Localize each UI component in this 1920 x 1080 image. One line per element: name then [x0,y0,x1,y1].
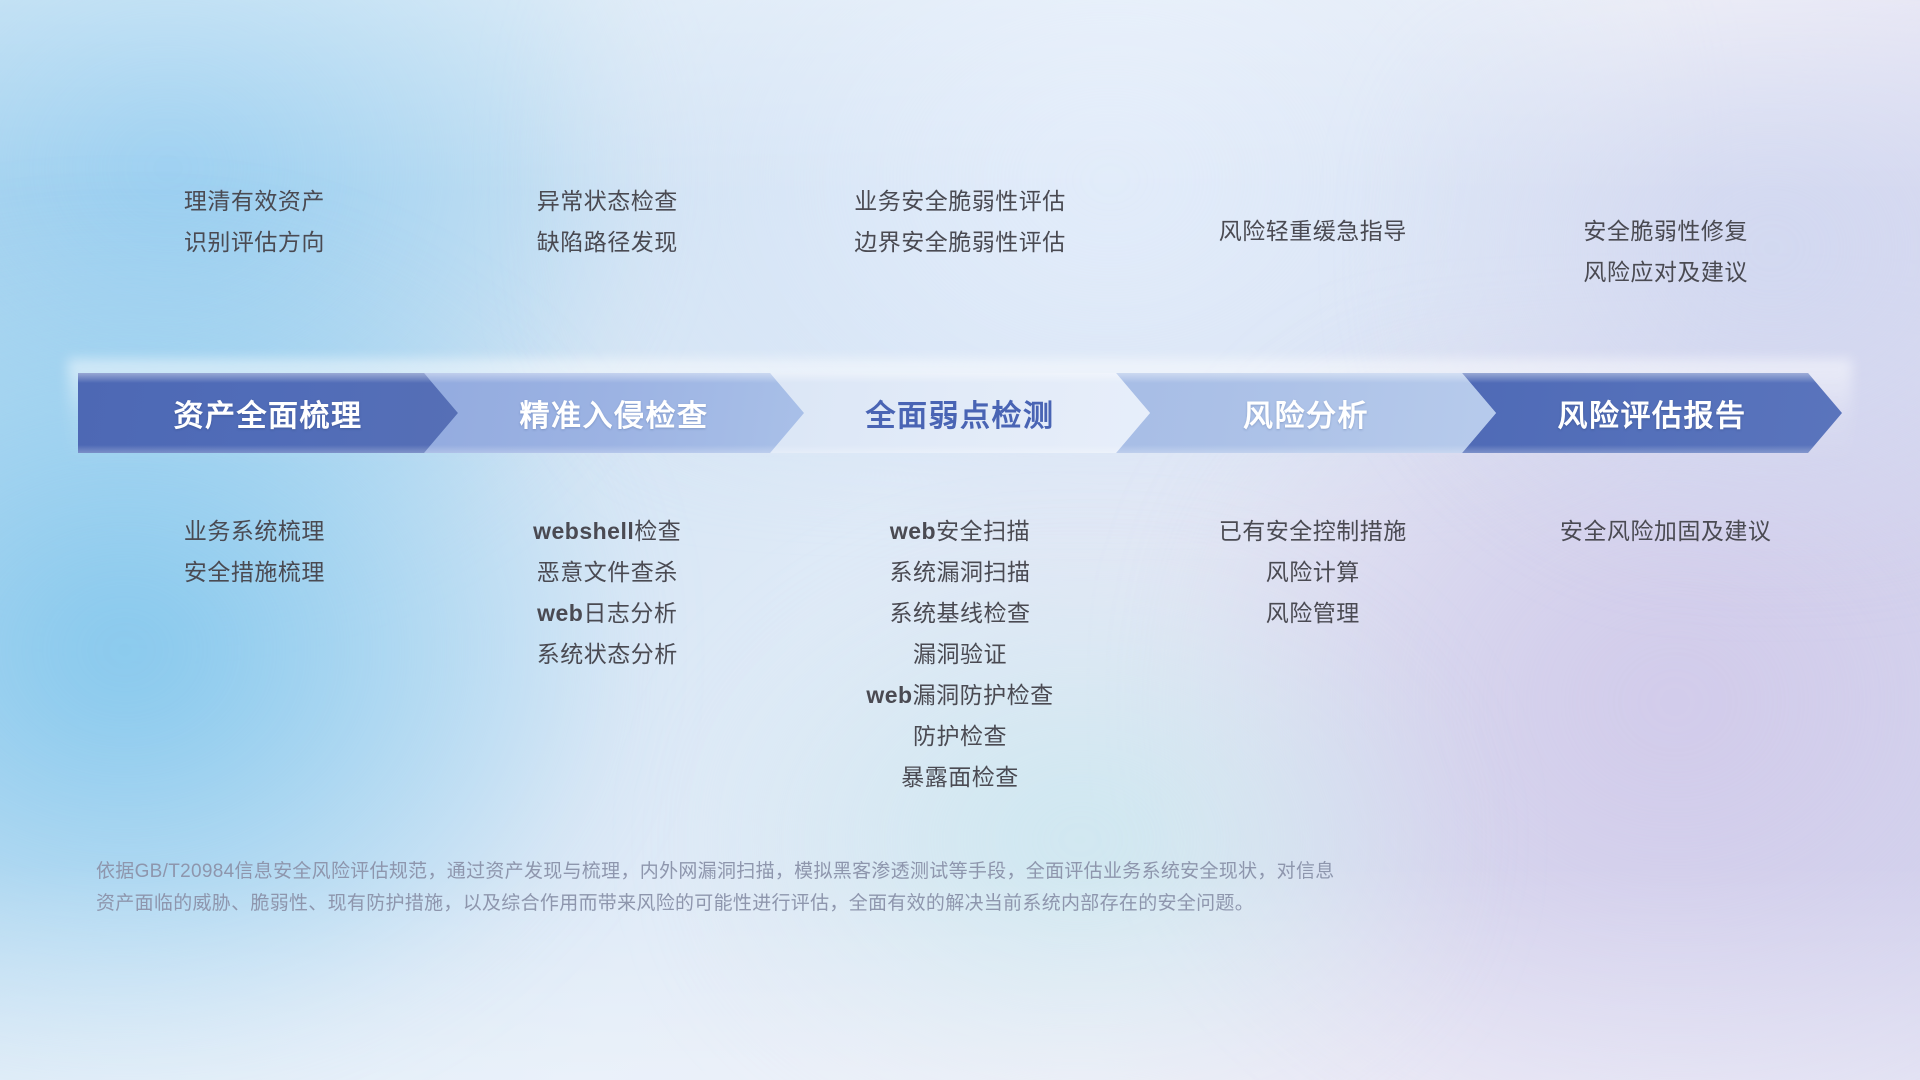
footer-line-1: 依据GB/T20984信息安全风险评估规范，通过资产发现与梳理，内外网漏洞扫描，… [96,856,1656,888]
top-list-item: 缺陷路径发现 [537,227,678,258]
slide-content: 理清有效资产 识别评估方向 异常状态检查 缺陷路径发现 业务安全脆弱性评估 边界… [0,0,1920,1080]
top-list-item: 业务安全脆弱性评估 [854,186,1066,217]
stage-arrow-risk-report[interactable]: 风险评估报告 [1462,373,1842,453]
bottom-list-item: web安全扫描 [890,516,1030,547]
footer-description: 依据GB/T20984信息安全风险评估规范，通过资产发现与梳理，内外网漏洞扫描，… [96,856,1656,920]
top-list-column-3: 业务安全脆弱性评估 边界安全脆弱性评估 [784,186,1137,288]
bottom-list-column-2: webshell检查 恶意文件查杀 web日志分析 系统状态分析 [431,516,784,793]
bottom-list-column-3: web安全扫描 系统漏洞扫描 系统基线检查 漏洞验证 web漏洞防护检查 防护检… [784,516,1137,793]
footer-line-2: 资产面临的威胁、脆弱性、现有防护措施，以及综合作用而带来风险的可能性进行评估，全… [96,888,1656,920]
bottom-list-item: 业务系统梳理 [184,516,325,547]
bottom-list-column-4: 已有安全控制措施 风险计算 风险管理 [1136,516,1489,793]
bottom-list-item: web日志分析 [537,598,677,629]
bottom-list-item: 系统基线检查 [889,598,1030,629]
top-list-column-1: 理清有效资产 识别评估方向 [78,186,431,288]
bottom-list-item: webshell检查 [533,516,681,547]
top-list-column-2: 异常状态检查 缺陷路径发现 [431,186,784,288]
bottom-list-item: 恶意文件查杀 [537,557,678,588]
stage-label: 资产全面梳理 [174,391,363,435]
stage-arrow-asset-inventory[interactable]: 资产全面梳理 [78,373,458,453]
top-list-column-5: 安全脆弱性修复 风险应对及建议 [1489,186,1842,288]
stage-arrow-intrusion-check[interactable]: 精准入侵检查 [424,373,804,453]
arrow-lower-highlight [424,445,804,453]
process-arrow-banner: 资产全面梳理 精准入侵检查 全面弱点检测 风险分析 [78,373,1842,453]
arrow-lower-highlight [770,445,1150,453]
bottom-list-column-5: 安全风险加固及建议 [1489,516,1842,793]
stage-arrow-weakness-detection[interactable]: 全面弱点检测 [770,373,1150,453]
stage-label: 风险分析 [1243,391,1369,435]
stage-label: 精准入侵检查 [520,391,709,435]
arrow-lower-highlight [1116,445,1496,453]
bottom-list-item: 已有安全控制措施 [1219,516,1407,547]
top-list-item: 安全脆弱性修复 [1583,216,1748,247]
arrow-highlight [424,373,804,383]
bottom-activity-lists: 业务系统梳理 安全措施梳理 webshell检查 恶意文件查杀 web日志分析 … [78,516,1842,793]
bottom-list-item: web漏洞防护检查 [866,680,1053,711]
stage-arrow-risk-analysis[interactable]: 风险分析 [1116,373,1496,453]
top-list-item: 边界安全脆弱性评估 [854,227,1066,258]
top-list-item: 风险轻重缓急指导 [1219,216,1407,247]
bottom-list-column-1: 业务系统梳理 安全措施梳理 [78,516,431,793]
arrow-highlight [1462,373,1842,383]
stage-label: 全面弱点检测 [866,391,1055,435]
top-list-item: 异常状态检查 [537,186,678,217]
arrow-lower-highlight [1462,445,1842,453]
top-list-item: 识别评估方向 [184,227,325,258]
arrow-highlight [770,373,1150,383]
bottom-list-item: 暴露面检查 [901,762,1019,793]
arrow-highlight [1116,373,1496,383]
bottom-list-item: 安全风险加固及建议 [1560,516,1772,547]
bottom-list-item: 防护检查 [913,721,1007,752]
arrow-highlight [78,373,458,383]
top-outcome-lists: 理清有效资产 识别评估方向 异常状态检查 缺陷路径发现 业务安全脆弱性评估 边界… [78,186,1842,288]
arrow-lower-highlight [78,445,458,453]
top-list-item: 风险应对及建议 [1583,257,1748,288]
bottom-list-item: 系统漏洞扫描 [889,557,1030,588]
bottom-list-item: 漏洞验证 [913,639,1007,670]
top-list-item: 理清有效资产 [184,186,325,217]
top-list-column-4: 风险轻重缓急指导 [1136,186,1489,288]
stage-label: 风险评估报告 [1558,391,1747,435]
bottom-list-item: 风险计算 [1266,557,1360,588]
bottom-list-item: 风险管理 [1266,598,1360,629]
bottom-list-item: 安全措施梳理 [184,557,325,588]
bottom-list-item: 系统状态分析 [537,639,678,670]
